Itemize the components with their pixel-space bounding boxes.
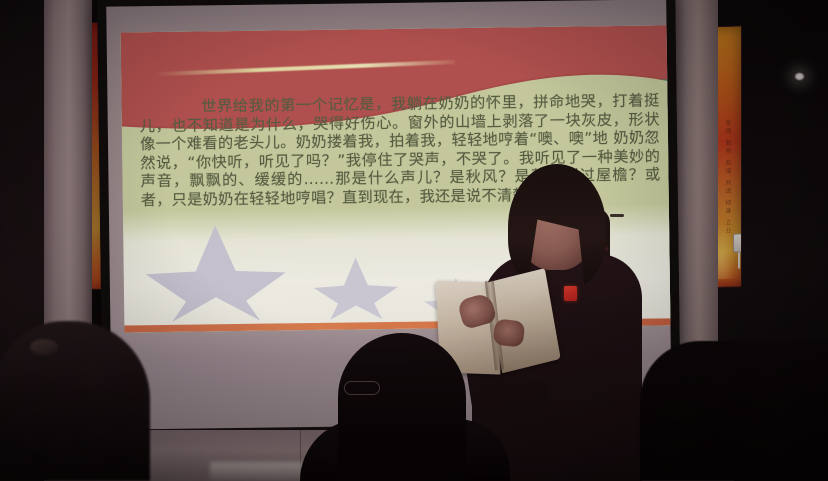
audience-head-right <box>640 341 828 481</box>
party-member-badge <box>564 286 577 301</box>
light-switch[interactable] <box>733 233 742 252</box>
eye-right <box>610 214 624 217</box>
hand-right <box>493 319 526 348</box>
audience-head-left <box>0 321 150 481</box>
classroom-scene: ☭ 不忘初心 牢记使命 厚德 载物 和谐 共进 修身 立业 <box>0 0 828 481</box>
eyeglasses-icon <box>344 381 380 395</box>
audience-head-center <box>338 333 466 481</box>
hair-tie <box>30 339 58 355</box>
star-medium-icon <box>314 257 399 320</box>
star-large-icon <box>145 224 286 322</box>
ceiling-light-icon <box>794 72 805 81</box>
